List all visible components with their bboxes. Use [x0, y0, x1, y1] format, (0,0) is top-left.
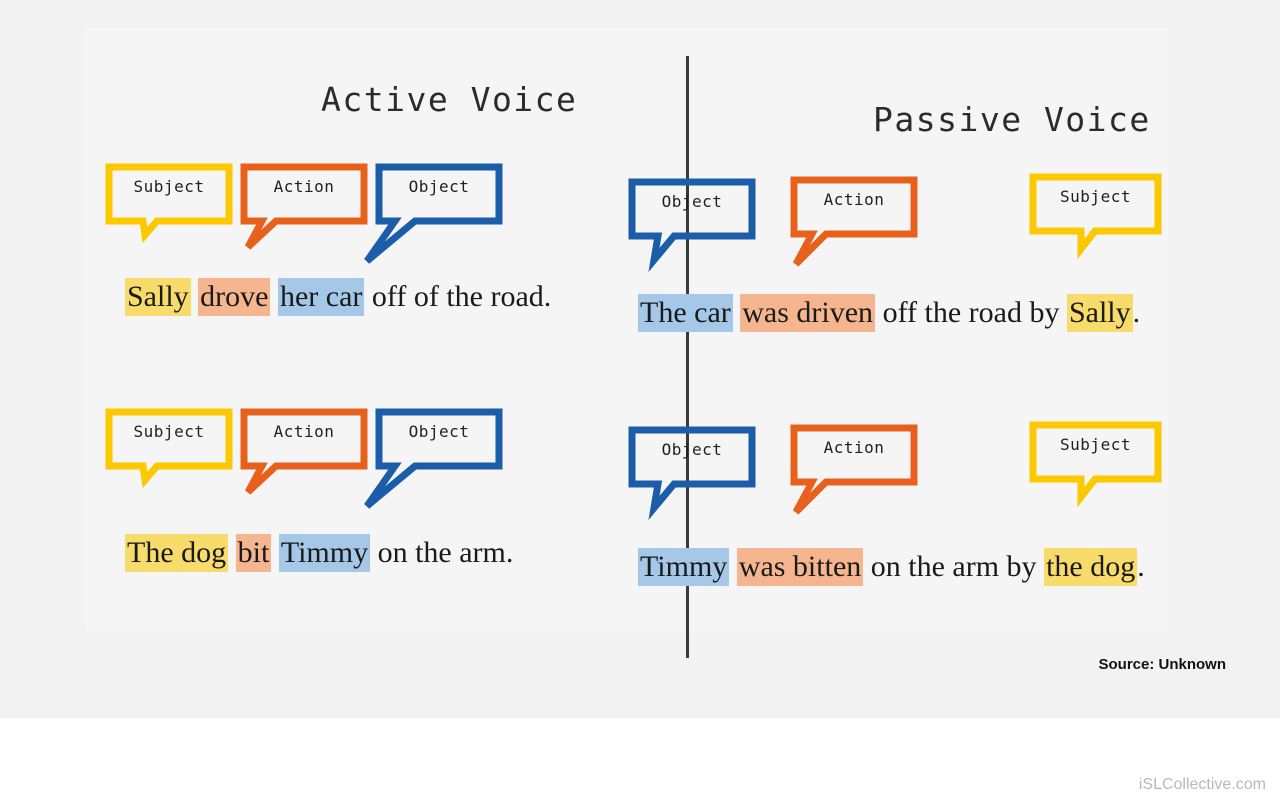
bubble-object-passive-1[interactable]: Object [628, 178, 756, 250]
sentence-passive-1: The car was driven off the road by Sally… [638, 296, 1140, 330]
bubble-label: Action [240, 177, 368, 196]
bubble-object-passive-2[interactable]: Object [628, 426, 756, 498]
bubble-subject-passive-2[interactable]: Subject [1029, 421, 1162, 493]
bubble-label: Object [375, 177, 503, 196]
sentence-part-object: Timmy [279, 534, 370, 572]
bubble-subject-passive-1[interactable]: Subject [1029, 173, 1162, 245]
bubble-label: Subject [1029, 187, 1162, 206]
site-watermark: iSLCollective.com [1139, 776, 1266, 794]
bubble-object-active-1[interactable]: Object [375, 163, 503, 235]
bubble-label: Action [790, 190, 918, 209]
sentence-part-subject: Sally [125, 278, 191, 316]
sentence-active-1: Sally drove her car off of the road. [125, 280, 551, 314]
sentence-space [271, 536, 279, 569]
sentence-part-object: The car [638, 294, 733, 332]
sentence-part-rest: on the arm. [370, 536, 513, 569]
sentence-space [228, 536, 236, 569]
sentence-part-object: Timmy [638, 548, 729, 586]
bubble-subject-active-1[interactable]: Subject [105, 163, 233, 235]
source-attribution: Source: Unknown [1098, 656, 1226, 673]
active-voice-title: Active Voice [321, 80, 577, 119]
bubble-label: Object [375, 422, 503, 441]
bubble-action-active-2[interactable]: Action [240, 408, 368, 480]
bubble-action-passive-2[interactable]: Action [790, 424, 918, 496]
bubble-action-active-1[interactable]: Action [240, 163, 368, 235]
bubble-label: Subject [1029, 435, 1162, 454]
sentence-part-rest: off of the road. [364, 280, 551, 313]
sentence-part-subject: Sally [1067, 294, 1133, 332]
passive-voice-title: Passive Voice [873, 100, 1151, 139]
sentence-part-subject: The dog [125, 534, 228, 572]
sentence-space [729, 550, 737, 583]
bubble-label: Object [628, 440, 756, 459]
bubble-label: Subject [105, 422, 233, 441]
bubble-object-active-2[interactable]: Object [375, 408, 503, 480]
sentence-part-middle: off the road by [875, 296, 1067, 329]
sentence-part-action: bit [236, 534, 272, 572]
sentence-part-action: drove [198, 278, 270, 316]
sentence-part-subject: the dog [1044, 548, 1137, 586]
sentence-active-2: The dog bit Timmy on the arm. [125, 536, 513, 570]
sentence-part-rest: . [1133, 296, 1141, 329]
slide-background: Active Voice Subject Action Object Sally… [0, 0, 1280, 718]
sentence-part-object: her car [278, 278, 364, 316]
bubble-subject-active-2[interactable]: Subject [105, 408, 233, 480]
bubble-action-passive-1[interactable]: Action [790, 176, 918, 248]
sentence-space [270, 280, 278, 313]
bubble-label: Subject [105, 177, 233, 196]
sentence-part-action: was bitten [737, 548, 863, 586]
sentence-part-action: was driven [740, 294, 875, 332]
sentence-part-rest: . [1137, 550, 1145, 583]
bubble-label: Object [628, 192, 756, 211]
sentence-part-middle: on the arm by [863, 550, 1044, 583]
sentence-passive-2: Timmy was bitten on the arm by the dog. [638, 550, 1145, 584]
bubble-label: Action [790, 438, 918, 457]
bubble-label: Action [240, 422, 368, 441]
content-card: Active Voice Subject Action Object Sally… [85, 28, 1168, 632]
